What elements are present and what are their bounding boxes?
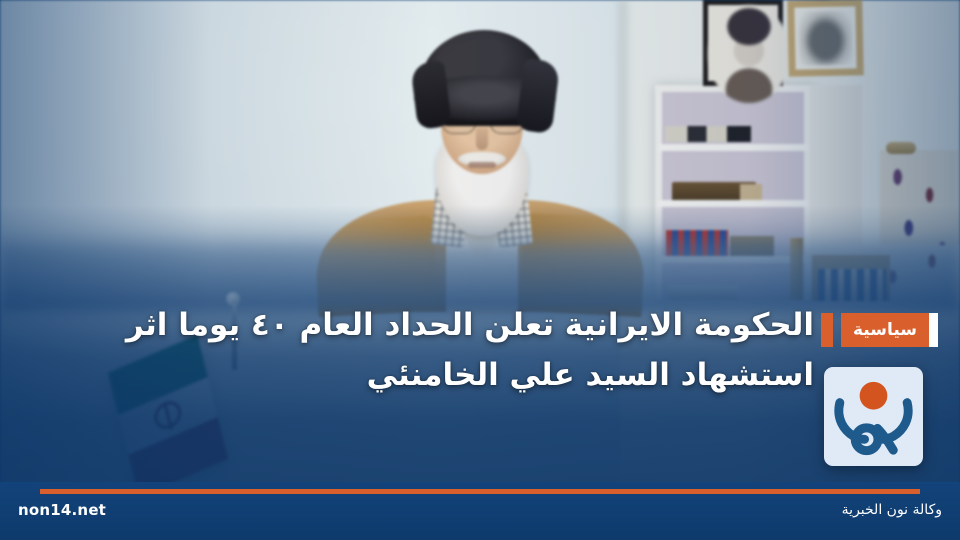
category-badge[interactable]: سياسية xyxy=(821,313,938,347)
headline-line-1: الحكومة الايرانية تعلن الحداد العام ٤٠ ي… xyxy=(126,307,814,343)
blue-vignette-overlay xyxy=(0,0,960,540)
site-url[interactable]: non14.net xyxy=(18,501,106,519)
agency-name: وكالة نون الخبرية xyxy=(842,502,942,518)
logo-figure-icon xyxy=(839,382,908,451)
badge-gap xyxy=(833,313,841,347)
logo-head-circle xyxy=(860,382,888,410)
footer-bar: non14.net وكالة نون الخبرية xyxy=(0,482,960,540)
badge-label: سياسية xyxy=(841,313,929,347)
headline: الحكومة الايرانية تعلن الحداد العام ٤٠ ي… xyxy=(114,300,814,400)
news-card: الحكومة الايرانية تعلن الحداد العام ٤٠ ي… xyxy=(0,0,960,540)
badge-white-bar xyxy=(929,313,938,347)
footer-orange-rule xyxy=(40,489,920,494)
headline-line-2: استشهاد السيد علي الخامنئي xyxy=(114,350,814,400)
agency-logo[interactable] xyxy=(824,367,923,466)
badge-orange-tab xyxy=(821,313,833,347)
